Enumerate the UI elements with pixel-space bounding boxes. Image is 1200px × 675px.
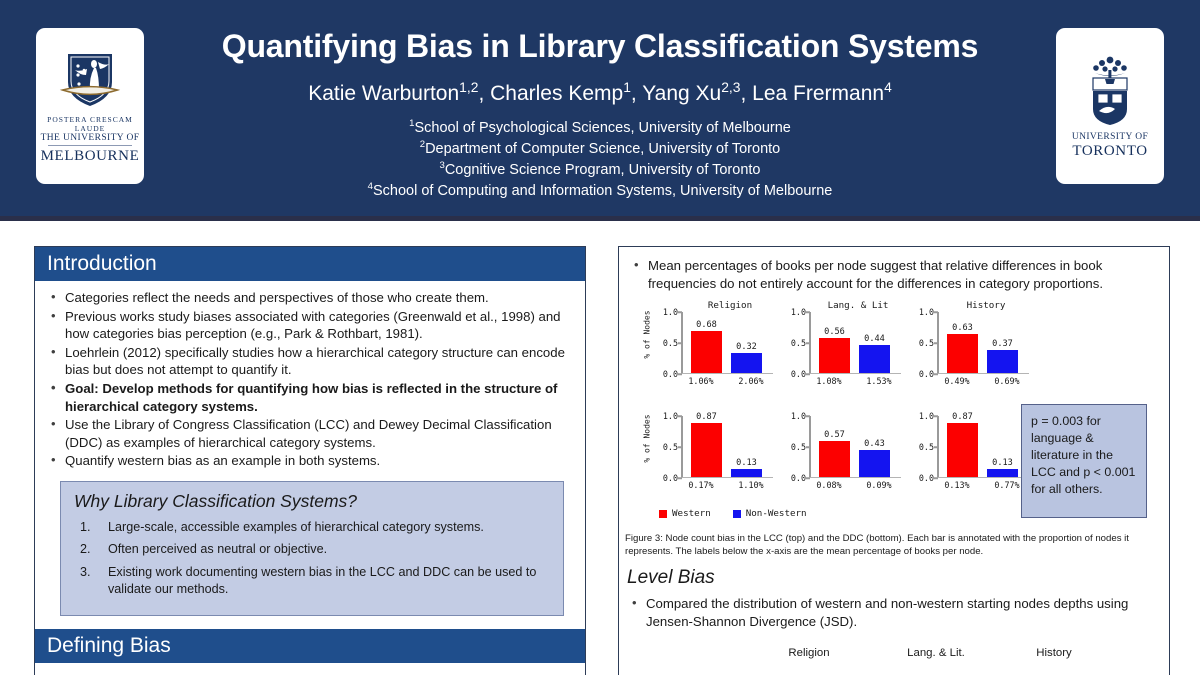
affiliation-2: 2Department of Computer Science, Univers… xyxy=(120,139,1080,160)
melbourne-crest-icon xyxy=(54,48,126,115)
callout-title: Why Library Classification Systems? xyxy=(74,491,550,512)
y-tick-label: 1.0 xyxy=(663,411,678,421)
list-item: Compared the distribution of western and… xyxy=(627,595,1143,630)
x-tick-label: 1.08% xyxy=(808,376,850,386)
y-tick-label: 0.5 xyxy=(791,442,806,452)
bar-value-label: 0.57 xyxy=(824,430,845,440)
list-item: Mean percentages of books per node sugge… xyxy=(629,257,1157,292)
bar-non-western: 0.44 xyxy=(859,345,890,372)
jsd-column-header-religion: Religion xyxy=(745,647,873,659)
toronto-crest-icon xyxy=(1075,53,1145,132)
chart-title: Religion xyxy=(683,300,777,311)
y-tick-label: 0.0 xyxy=(919,473,934,483)
legend-item-non-western: Non-Western xyxy=(733,508,807,519)
y-tick-label: 1.0 xyxy=(919,411,934,421)
bar-non-western: 0.13 xyxy=(731,469,762,477)
x-tick-label: 1.06% xyxy=(680,376,722,386)
plot-area: 0.0 0.5 1.0 0.68 0.32 1.06% 2.06% xyxy=(681,312,773,374)
x-axis-line xyxy=(809,373,901,375)
right-column-body: Mean percentages of books per node sugge… xyxy=(619,247,1169,521)
chart-religion-lcc: Religion % of Nodes 0.0 0.5 1.0 0.68 xyxy=(651,300,777,400)
bar-western: 0.87 xyxy=(691,423,722,477)
figure-3-caption: Figure 3: Node count bias in the LCC (to… xyxy=(625,532,1145,559)
legend-swatch-non-western-icon xyxy=(733,510,741,518)
affiliation-1: 1School of Psychological Sciences, Unive… xyxy=(120,118,1080,139)
bar-western: 0.57 xyxy=(819,441,850,476)
y-tick-label: 0.0 xyxy=(663,473,678,483)
x-tick-label: 0.17% xyxy=(680,480,722,490)
y-tick-label: 0.5 xyxy=(663,338,678,348)
y-tick-label: 0.0 xyxy=(663,369,678,379)
x-axis-line xyxy=(809,477,901,479)
bar-non-western: 0.37 xyxy=(987,350,1018,373)
bar-value-label: 0.68 xyxy=(696,320,717,330)
introduction-bullet-list: Categories reflect the needs and perspec… xyxy=(46,289,574,470)
legend-label: Non-Western xyxy=(746,508,807,519)
x-tick-label: 1.53% xyxy=(858,376,900,386)
plot-area: 0.0 0.5 1.0 0.87 0.13 0.13% 0.77% xyxy=(937,416,1029,478)
section-header-introduction: Introduction xyxy=(35,247,585,281)
y-tick-label: 0.0 xyxy=(791,369,806,379)
bar-non-western: 0.32 xyxy=(731,353,762,373)
chart-lang-lit-ddc: 0.0 0.5 1.0 0.57 0.43 0.08% 0.09% xyxy=(779,404,905,504)
list-item: Large-scale, accessible examples of hier… xyxy=(74,519,550,537)
x-axis-line xyxy=(937,477,1029,479)
mean-percentages-bullet-list: Mean percentages of books per node sugge… xyxy=(629,257,1157,292)
toronto-line-1: UNIVERSITY OF xyxy=(1072,132,1148,142)
chart-history-lcc: History 0.0 0.5 1.0 0.63 xyxy=(907,300,1033,400)
y-axis-label: % of Nodes xyxy=(643,399,652,479)
list-item: Use the Library of Congress Classificati… xyxy=(46,416,574,451)
chart-legend: Western Non-Western xyxy=(659,508,807,519)
bar-value-label: 0.87 xyxy=(952,412,973,422)
poster-title: Quantifying Bias in Library Classificati… xyxy=(150,28,1050,65)
jsd-column-header-lang-lit: Lang. & Lit. xyxy=(873,647,999,659)
list-item: Categories reflect the needs and perspec… xyxy=(46,289,574,307)
x-tick-label: 0.49% xyxy=(936,376,978,386)
list-item: Often perceived as neutral or objective. xyxy=(74,541,550,559)
y-tick-label: 0.5 xyxy=(663,442,678,452)
bar-value-label: 0.43 xyxy=(864,439,885,449)
x-axis-line xyxy=(937,373,1029,375)
x-tick-label: 0.09% xyxy=(858,480,900,490)
bar-value-label: 0.37 xyxy=(992,339,1013,349)
x-axis-line xyxy=(681,373,773,375)
x-tick-label: 0.13% xyxy=(936,480,978,490)
list-item: Existing work documenting western bias i… xyxy=(74,564,550,599)
x-tick-label: 0.08% xyxy=(808,480,850,490)
chart-religion-ddc: % of Nodes 0.0 0.5 1.0 0.87 xyxy=(651,404,777,504)
y-axis-label: % of Nodes xyxy=(643,295,652,375)
toronto-line-2: TORONTO xyxy=(1072,143,1147,160)
conference-poster: POSTERA CRESCAM LAUDE THE UNIVERSITY OF … xyxy=(0,0,1200,675)
affiliation-4: 4School of Computing and Information Sys… xyxy=(120,181,1080,202)
bar-value-label: 0.44 xyxy=(864,334,885,344)
callout-numbered-list: Large-scale, accessible examples of hier… xyxy=(74,519,550,599)
poster-authors: Katie Warburton1,2, Charles Kemp1, Yang … xyxy=(150,82,1050,106)
x-tick-label: 1.10% xyxy=(730,480,772,490)
level-bias-bullet-list: Compared the distribution of western and… xyxy=(627,595,1143,630)
bar-value-label: 0.13 xyxy=(736,458,757,468)
y-tick-label: 0.0 xyxy=(919,369,934,379)
introduction-body: Categories reflect the needs and perspec… xyxy=(35,281,585,616)
y-tick-label: 1.0 xyxy=(663,307,678,317)
list-item-goal: Goal: Develop methods for quantifying ho… xyxy=(46,380,574,415)
chart-lang-lit-lcc: Lang. & Lit 0.0 0.5 1.0 0.56 xyxy=(779,300,905,400)
y-tick-label: 1.0 xyxy=(791,307,806,317)
y-tick-label: 1.0 xyxy=(791,411,806,421)
chart-title: History xyxy=(939,300,1033,311)
level-bias-body: Compared the distribution of western and… xyxy=(627,595,1143,631)
x-tick-label: 0.69% xyxy=(986,376,1028,386)
jsd-column-header-history: History xyxy=(999,647,1109,659)
affiliation-3: 3Cognitive Science Program, University o… xyxy=(120,160,1080,181)
bar-value-label: 0.13 xyxy=(992,458,1013,468)
legend-swatch-western-icon xyxy=(659,510,667,518)
bar-non-western: 0.13 xyxy=(987,469,1018,477)
bar-western: 0.63 xyxy=(947,334,978,373)
bar-value-label: 0.56 xyxy=(824,327,845,337)
plot-area: 0.0 0.5 1.0 0.63 0.37 0.49% 0.69% xyxy=(937,312,1029,374)
plot-area: 0.0 0.5 1.0 0.56 0.44 1.08% 1.53% xyxy=(809,312,901,374)
bar-western: 0.56 xyxy=(819,338,850,373)
plot-area: 0.0 0.5 1.0 0.57 0.43 0.08% 0.09% xyxy=(809,416,901,478)
p-value-callout: p = 0.003 for language & literature in t… xyxy=(1021,404,1147,518)
section-header-defining-bias: Defining Bias xyxy=(35,629,585,663)
list-item: Loehrlein (2012) specifically studies ho… xyxy=(46,344,574,379)
bar-western: 0.68 xyxy=(691,331,722,373)
list-item: Previous works study biases associated w… xyxy=(46,308,574,343)
node-count-bias-chart-grid: Religion % of Nodes 0.0 0.5 1.0 0.68 xyxy=(651,300,1031,505)
bar-non-western: 0.43 xyxy=(859,450,890,477)
y-tick-label: 0.5 xyxy=(919,338,934,348)
jsd-row-label-spacer xyxy=(627,647,745,659)
chart-history-ddc: 0.0 0.5 1.0 0.87 0.13 0.13% 0.77% xyxy=(907,404,1033,504)
bar-western: 0.87 xyxy=(947,423,978,477)
left-column-panel: Introduction Categories reflect the need… xyxy=(34,246,586,675)
chart-title: Lang. & Lit xyxy=(811,300,905,311)
bar-value-label: 0.63 xyxy=(952,323,973,333)
figure-3-area: Religion % of Nodes 0.0 0.5 1.0 0.68 xyxy=(629,296,1157,521)
plot-area: 0.0 0.5 1.0 0.87 0.13 0.17% 1.10% xyxy=(681,416,773,478)
y-tick-label: 1.0 xyxy=(919,307,934,317)
right-column-panel: Mean percentages of books per node sugge… xyxy=(618,246,1170,675)
level-bias-heading: Level Bias xyxy=(627,567,715,589)
y-tick-label: 0.5 xyxy=(919,442,934,452)
why-library-classification-callout: Why Library Classification Systems? Larg… xyxy=(60,481,564,616)
list-item: Quantify western bias as an example in b… xyxy=(46,452,574,470)
poster-affiliations: 1School of Psychological Sciences, Unive… xyxy=(120,118,1080,202)
legend-item-western: Western xyxy=(659,508,711,519)
bar-value-label: 0.87 xyxy=(696,412,717,422)
y-tick-label: 0.0 xyxy=(791,473,806,483)
jsd-table-header-row: Religion Lang. & Lit. History xyxy=(627,647,1147,659)
y-tick-label: 0.5 xyxy=(791,338,806,348)
legend-label: Western xyxy=(672,508,711,519)
banner-bottom-rule xyxy=(0,216,1200,221)
x-tick-label: 2.06% xyxy=(730,376,772,386)
x-axis-line xyxy=(681,477,773,479)
bar-value-label: 0.32 xyxy=(736,342,757,352)
